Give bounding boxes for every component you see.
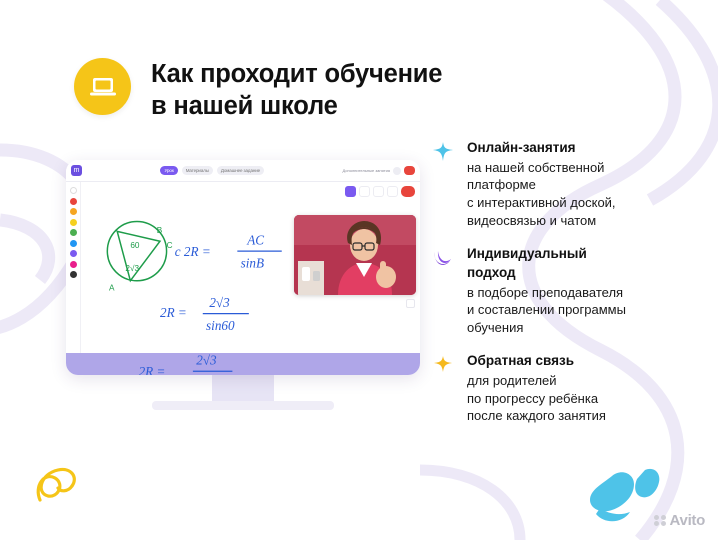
- feature-individual-approach: Индивидуальный подход в подборе преподав…: [432, 246, 692, 336]
- session-label: Дополнительные занятия: [343, 168, 390, 173]
- color-swatch-purple[interactable]: [70, 250, 77, 257]
- feature-line: видеосвязью и чатом: [467, 212, 616, 230]
- squiggle-decoration: [38, 469, 74, 500]
- app-topbar: m Урок Материалы Домашнее задание Дополн…: [66, 160, 420, 182]
- spark-icon: [432, 140, 456, 229]
- video-call-tile[interactable]: [294, 215, 416, 295]
- monitor-screen: m Урок Материалы Домашнее задание Дополн…: [66, 160, 420, 375]
- monitor-stand: [152, 401, 334, 410]
- app-topbar-actions: Дополнительные занятия: [343, 166, 415, 175]
- feature-title: Онлайн-занятия: [467, 140, 616, 157]
- svg-text:60: 60: [130, 241, 140, 250]
- monitor-mockup: m Урок Материалы Домашнее задание Дополн…: [66, 160, 420, 410]
- feature-line: по прогрессу ребёнка: [467, 390, 606, 408]
- color-swatch-white[interactable]: [70, 187, 77, 194]
- color-swatch-black[interactable]: [70, 271, 77, 278]
- laptop-icon-glyph: [88, 75, 118, 99]
- svg-text:2√3: 2√3: [125, 264, 139, 273]
- tab-materials[interactable]: Материалы: [182, 166, 213, 175]
- laptop-icon: [74, 58, 131, 115]
- color-swatch-green[interactable]: [70, 229, 77, 236]
- feature-line: в подборе преподавателя: [467, 284, 626, 302]
- tab-homework[interactable]: Домашнее задание: [217, 166, 264, 175]
- feature-feedback: Обратная связь для родителей по прогресс…: [432, 353, 692, 425]
- video-settings-button[interactable]: [406, 299, 415, 308]
- record-button[interactable]: [404, 166, 415, 175]
- page-header: Как проходит обучение в нашей школе: [74, 58, 442, 122]
- feature-title-line2: подход: [467, 265, 626, 282]
- feature-feedback-text: Обратная связь для родителей по прогресс…: [467, 353, 606, 425]
- feature-title-line1: Индивидуальный: [467, 246, 626, 263]
- feature-title: Обратная связь: [467, 353, 606, 370]
- feature-line: платформе: [467, 176, 616, 194]
- feature-individual-approach-text: Индивидуальный подход в подборе преподав…: [467, 246, 626, 336]
- app-logo-icon: m: [71, 165, 82, 176]
- svg-text:2√3: 2√3: [209, 295, 230, 310]
- svg-text:A: A: [109, 284, 115, 293]
- feature-line: и составлении программы: [467, 301, 626, 319]
- tab-lesson[interactable]: Урок: [160, 166, 177, 175]
- video-feed: [294, 215, 416, 295]
- svg-text:2R = 4: 2R = 4: [262, 374, 299, 375]
- avito-dots-icon: [654, 515, 666, 527]
- svg-text:2R =: 2R =: [160, 305, 187, 320]
- topbar-action-icon[interactable]: [393, 167, 401, 175]
- app-tabs: Урок Материалы Домашнее задание: [86, 166, 339, 175]
- feature-line: с интерактивной доской,: [467, 194, 616, 212]
- svg-text:C: C: [167, 241, 173, 250]
- svg-text:B: B: [157, 226, 163, 235]
- color-swatch-orange[interactable]: [70, 208, 77, 215]
- plus-icon: [432, 353, 456, 425]
- page-title: Как проходит обучение в нашей школе: [151, 58, 442, 122]
- avito-watermark: Avito: [654, 512, 705, 529]
- svg-text:2R =: 2R =: [139, 364, 166, 375]
- blob-decoration: [590, 469, 659, 521]
- interactive-whiteboard[interactable]: B A C 60 2√3 c 2R = AC sinB 2R = 2√3: [81, 182, 420, 353]
- svg-text:c 2R =: c 2R =: [175, 244, 211, 259]
- feature-line: для родителей: [467, 372, 606, 390]
- feature-list: Онлайн-занятия на нашей собственной плат…: [432, 140, 692, 442]
- page-title-line1: Как проходит обучение: [151, 59, 442, 90]
- color-swatch-yellow[interactable]: [70, 219, 77, 226]
- feature-line: обучения: [467, 319, 626, 337]
- svg-text:sinB: sinB: [241, 256, 264, 271]
- color-swatch-pink[interactable]: [70, 261, 77, 268]
- color-swatch-blue[interactable]: [70, 240, 77, 247]
- feature-online-lessons: Онлайн-занятия на нашей собственной плат…: [432, 140, 692, 229]
- wave-icon: [432, 246, 456, 336]
- feature-online-lessons-text: Онлайн-занятия на нашей собственной плат…: [467, 140, 616, 229]
- monitor-neck: [212, 375, 274, 401]
- svg-text:sin60: sin60: [206, 318, 235, 333]
- page-title-line2: в нашей школе: [151, 91, 442, 122]
- feature-line: на нашей собственной: [467, 159, 616, 177]
- feature-line: после каждого занятия: [467, 407, 606, 425]
- color-swatch-red[interactable]: [70, 198, 77, 205]
- svg-text:2√3: 2√3: [196, 353, 217, 368]
- app-main: B A C 60 2√3 c 2R = AC sinB 2R = 2√3: [66, 182, 420, 353]
- svg-text:AC: AC: [246, 233, 264, 248]
- watermark-text: Avito: [670, 512, 705, 529]
- toolbar-colors[interactable]: [66, 182, 81, 353]
